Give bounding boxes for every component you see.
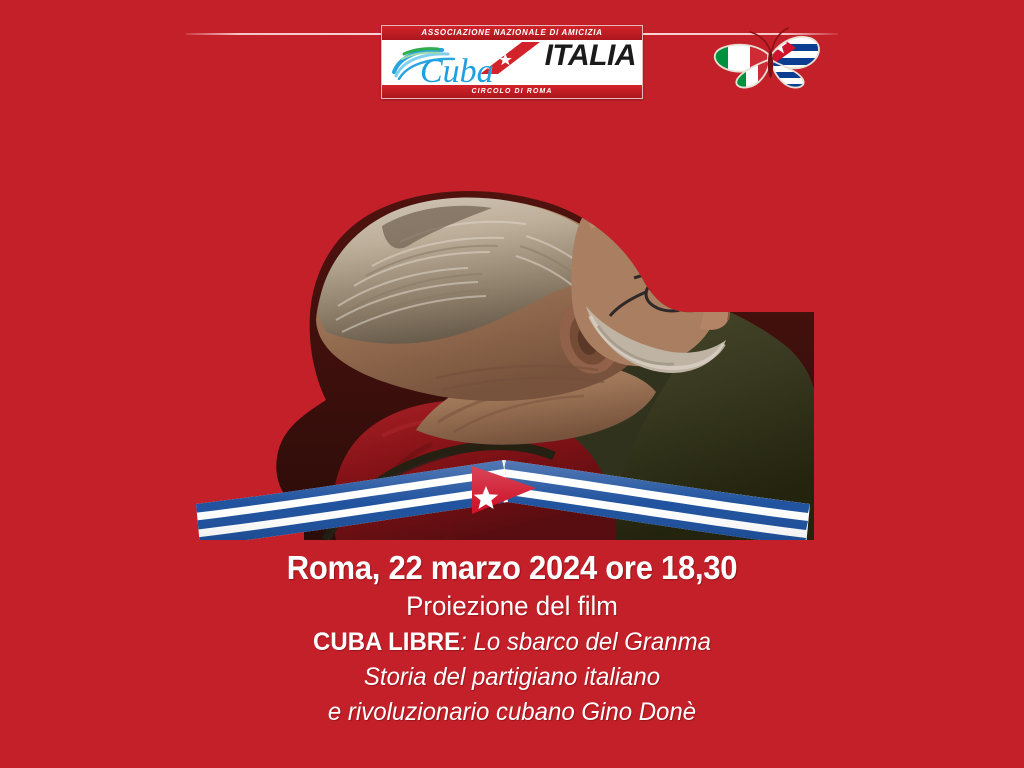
event-date-line: Roma, 22 marzo 2024 ore 18,30 [31, 548, 994, 588]
film-title-rest: : Lo sbarco del Granma [460, 628, 711, 656]
film-title-bold: CUBA LIBRE [313, 628, 460, 656]
logo-graphic: ITALIA Cuba [382, 40, 642, 85]
logo-chapter-name: CIRCOLO DI ROMA [382, 85, 642, 98]
logo-cuba-word: Cuba [420, 55, 494, 89]
film-subtitle-2: e rivoluzionario cubano Gino Donè [20, 695, 1003, 730]
logo-top-bar: ASSOCIAZIONE NAZIONALE DI AMICIZIA [382, 26, 642, 40]
event-poster: ASSOCIAZIONE NAZIONALE DI AMICIZIA ITALI… [0, 0, 1024, 768]
film-subtitle-1: Storia del partigiano italiano [20, 660, 1003, 695]
association-logo: ASSOCIAZIONE NAZIONALE DI AMICIZIA ITALI… [381, 25, 643, 99]
logo-bottom-bar: CIRCOLO DI ROMA [382, 85, 642, 98]
italy-cuba-butterfly-icon [712, 20, 830, 92]
film-title-line: CUBA LIBRE: Lo sbarco del Granma [20, 624, 1003, 660]
screening-label: Proiezione del film [20, 588, 1003, 624]
shoulder-insignia [650, 206, 764, 257]
logo-association-name: ASSOCIAZIONE NAZIONALE DI AMICIZIA [382, 26, 642, 40]
event-details: Roma, 22 marzo 2024 ore 18,30 Proiezione… [0, 548, 1024, 730]
logo-italia-word: ITALIA [545, 41, 636, 71]
event-photo [186, 100, 818, 540]
